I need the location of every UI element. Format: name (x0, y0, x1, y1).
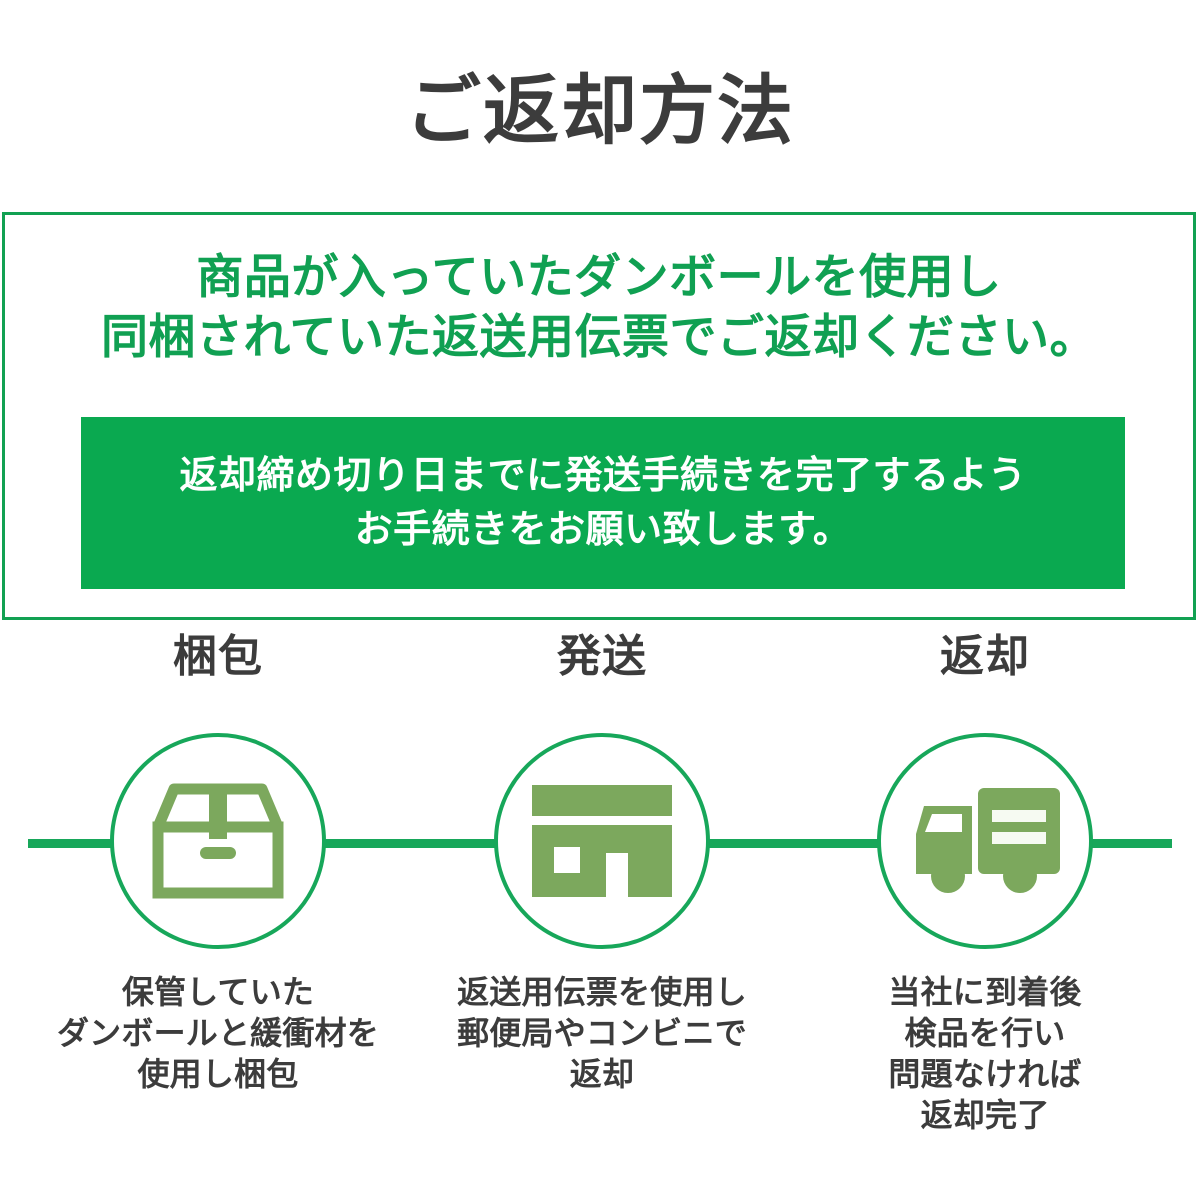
steps-flow: 梱包 保管していた ダンボールと緩衝材 (0, 620, 1200, 1198)
convenience-store-icon (532, 785, 672, 897)
step-shipping-icon-circle (494, 733, 710, 949)
step-return-caption-line-4: 返却完了 (793, 1095, 1177, 1136)
notice-headline-line-2: 同梱されていた返送用伝票でご返却ください。 (5, 307, 1193, 367)
step-return-caption: 当社に到着後 検品を行い 問題なければ 返却完了 (793, 972, 1177, 1136)
step-packing: 梱包 保管していた ダンボールと緩衝材 (26, 620, 410, 1198)
step-return-icon-circle (877, 733, 1093, 949)
step-packing-caption-line-2: ダンボールと緩衝材を (26, 1013, 410, 1054)
step-shipping-caption-line-1: 返送用伝票を使用し (410, 972, 794, 1013)
step-return-caption-line-1: 当社に到着後 (793, 972, 1177, 1013)
step-return-caption-line-2: 検品を行い (793, 1013, 1177, 1054)
delivery-truck-icon (910, 788, 1060, 894)
step-packing-caption: 保管していた ダンボールと緩衝材を 使用し梱包 (26, 972, 410, 1095)
deadline-banner: 返却締め切り日までに発送手続きを完了するよう お手続きをお願い致します。 (81, 417, 1125, 589)
return-instructions-page: ご返却方法 商品が入っていたダンボールを使用し 同梱されていた返送用伝票でご返却… (0, 0, 1200, 1198)
page-title: ご返却方法 (0, 68, 1200, 156)
step-shipping-caption-line-3: 返却 (410, 1054, 794, 1095)
step-shipping-label: 発送 (410, 630, 794, 684)
notice-headline: 商品が入っていたダンボールを使用し 同梱されていた返送用伝票でご返却ください。 (5, 247, 1193, 367)
step-packing-caption-line-1: 保管していた (26, 972, 410, 1013)
step-shipping-caption: 返送用伝票を使用し 郵便局やコンビニで 返却 (410, 972, 794, 1095)
notice-headline-line-1: 商品が入っていたダンボールを使用し (5, 247, 1193, 307)
step-packing-label: 梱包 (26, 630, 410, 684)
step-packing-caption-line-3: 使用し梱包 (26, 1054, 410, 1095)
step-packing-icon-circle (110, 733, 326, 949)
step-shipping-caption-line-2: 郵便局やコンビニで (410, 1013, 794, 1054)
deadline-banner-line-2: お手続きをお願い致します。 (355, 503, 852, 557)
step-shipping: 発送 返送用伝票を使用し 郵便局やコンビニで 返却 (410, 620, 794, 1198)
notice-panel: 商品が入っていたダンボールを使用し 同梱されていた返送用伝票でご返却ください。 … (2, 212, 1196, 620)
step-return-label: 返却 (793, 630, 1177, 684)
step-return: 返却 (793, 620, 1177, 1198)
step-return-caption-line-3: 問題なければ (793, 1054, 1177, 1095)
cardboard-box-icon (152, 781, 284, 901)
deadline-banner-line-1: 返却締め切り日までに発送手続きを完了するよう (179, 449, 1026, 503)
